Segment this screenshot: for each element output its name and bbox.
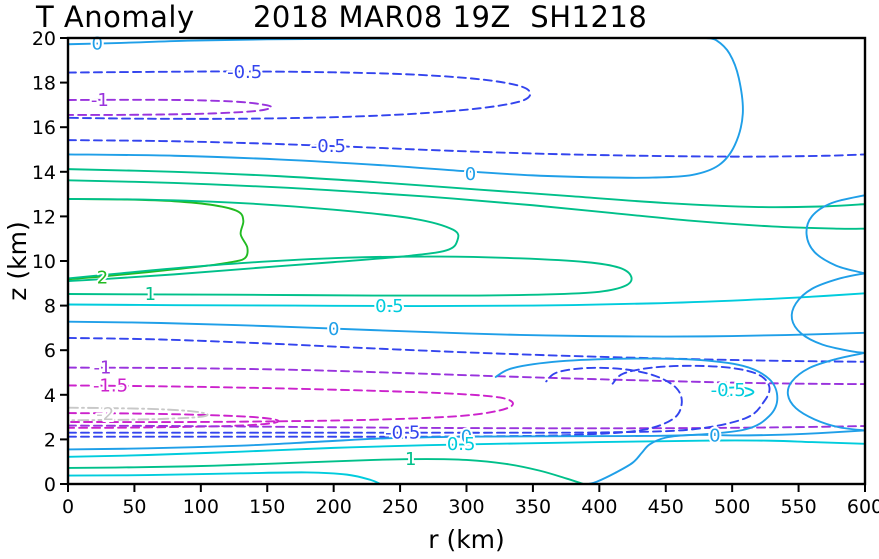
y-tick-label: 14 bbox=[32, 162, 56, 184]
contour-line-0 bbox=[788, 353, 865, 431]
x-tick-label: 250 bbox=[382, 496, 418, 518]
x-axis-title: r (km) bbox=[428, 525, 505, 554]
y-tick-label: 12 bbox=[32, 206, 56, 228]
contour-line--0.5 bbox=[68, 338, 865, 362]
contour-label: -0.5 bbox=[311, 136, 346, 157]
contour-line-0 bbox=[589, 430, 865, 484]
contour-line-0 bbox=[68, 322, 865, 337]
contour-label: 0.5 bbox=[447, 434, 476, 455]
contour-line-0.5 bbox=[68, 472, 380, 484]
contour-label-layer: 0-0.5-1-0.50210.50-1-1.5-2-0.500.51-0.50 bbox=[91, 34, 746, 470]
contour-label: 0 bbox=[465, 164, 476, 185]
contour-label: 0 bbox=[328, 319, 339, 340]
y-tick-label: 2 bbox=[44, 429, 56, 451]
contour-label: -1.5 bbox=[93, 375, 128, 396]
x-tick-label: 100 bbox=[183, 496, 219, 518]
contour-line-2 bbox=[68, 199, 248, 279]
contour-line--0.5 bbox=[68, 71, 530, 118]
y-tick-label: 16 bbox=[32, 117, 56, 139]
y-tick-label: 18 bbox=[32, 73, 56, 95]
contour-plot: 0-0.5-1-0.50210.50-1-1.5-2-0.500.51-0.50… bbox=[0, 0, 879, 559]
contour-label: -0.5 bbox=[711, 380, 746, 401]
x-tick-label: 550 bbox=[780, 496, 816, 518]
contour-label: -0.5 bbox=[385, 422, 420, 443]
y-tick-label: 10 bbox=[32, 251, 56, 273]
contour-layer bbox=[68, 38, 865, 484]
contour-label: 1 bbox=[405, 449, 416, 470]
y-tick-label: 20 bbox=[32, 28, 56, 50]
contour-line-1 bbox=[68, 459, 583, 484]
x-tick-label: 450 bbox=[648, 496, 684, 518]
contour-line-0 bbox=[792, 273, 865, 353]
x-tick-label: 350 bbox=[515, 496, 551, 518]
x-tick-label: 150 bbox=[249, 496, 285, 518]
contour-line--0.5 bbox=[68, 140, 865, 157]
contour-line-0 bbox=[68, 38, 743, 178]
x-tick-label: 50 bbox=[122, 496, 146, 518]
figure-root: T Anomaly 2018 MAR08 19Z SH1218 0-0.5-1-… bbox=[0, 0, 879, 559]
contour-label: 0 bbox=[91, 34, 102, 55]
y-axis-title: z (km) bbox=[3, 221, 32, 300]
contour-line-1 bbox=[68, 199, 458, 281]
x-tick-label: 500 bbox=[714, 496, 750, 518]
contour-line-1 bbox=[68, 180, 865, 229]
contour-line--1.5 bbox=[68, 385, 513, 422]
contour-label: 0.5 bbox=[375, 296, 404, 317]
contour-label: -0.5 bbox=[227, 62, 262, 83]
x-tick-label: 300 bbox=[448, 496, 484, 518]
y-tick-label: 6 bbox=[44, 340, 56, 362]
x-tick-label: 600 bbox=[847, 496, 879, 518]
contour-label: -1 bbox=[91, 90, 109, 111]
y-tick-label: 8 bbox=[44, 296, 56, 318]
x-tick-label: 400 bbox=[581, 496, 617, 518]
contour-label: 2 bbox=[97, 267, 108, 288]
contour-label: -2 bbox=[96, 404, 114, 425]
contour-label: 0 bbox=[709, 425, 720, 446]
x-tick-label: 200 bbox=[316, 496, 352, 518]
x-tick-label: 0 bbox=[62, 496, 74, 518]
y-tick-label: 4 bbox=[44, 385, 56, 407]
contour-label: 1 bbox=[145, 284, 156, 305]
y-tick-label: 0 bbox=[44, 474, 56, 496]
